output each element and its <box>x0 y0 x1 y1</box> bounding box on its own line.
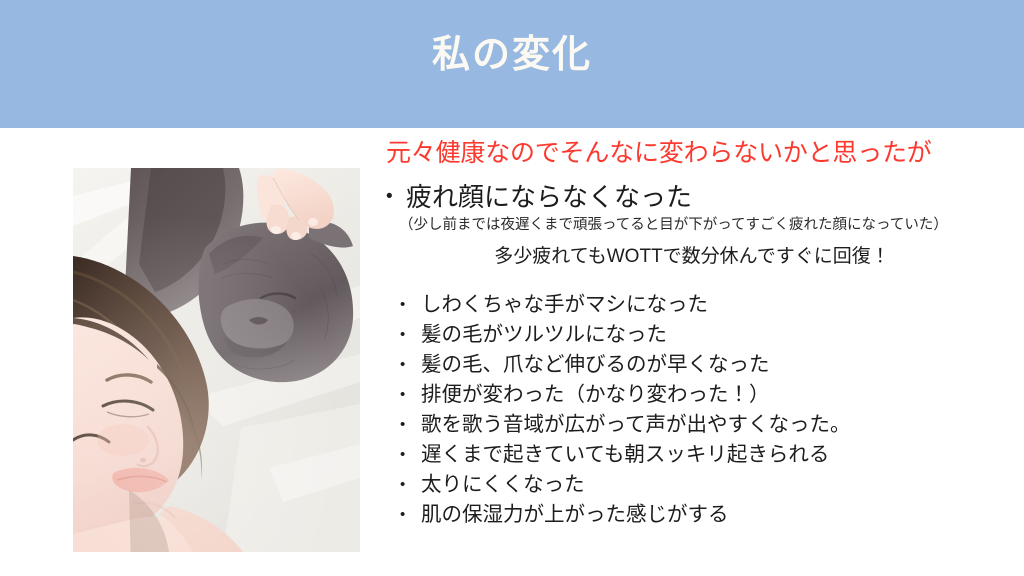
list-item: • 排便が変わった（かなり変わった！） <box>400 380 1012 410</box>
primary-point-block: • 疲れ顔にならなくなった （少し前までは夜遅くまで頑張ってると目が下がってすご… <box>386 180 1012 270</box>
list-item: • 髪の毛がツルツルになった <box>400 320 1012 350</box>
slide: 私の変化 <box>0 0 1024 576</box>
bullet-icon: • <box>400 380 421 410</box>
bullet-icon: • <box>400 320 421 350</box>
list-item: • 遅くまで起きていても朝スッキリ起きられる <box>400 440 1012 470</box>
bullet-icon: • <box>400 410 421 440</box>
list-item-label: 髪の毛、爪など伸びるのが早くなった <box>421 350 770 380</box>
intro-line: 元々健康なのでそんなに変わらないかと思ったが <box>386 138 1012 168</box>
bullet-icon: • <box>400 290 421 320</box>
highlight-line: 多少疲れてもWOTTで数分休んですぐに回復！ <box>372 244 1012 270</box>
list-item: • しわくちゃな手がマシになった <box>400 290 1012 320</box>
list-item: • 太りにくくなった <box>400 470 1012 500</box>
list-item: • 歌を歌う音域が広がって声が出やすくなった。 <box>400 410 1012 440</box>
primary-note: （少し前までは夜遅くまで頑張ってると目が下がってすごく疲れた顔になっていた） <box>399 215 1012 235</box>
list-item: • 肌の保湿力が上がった感じがする <box>400 500 1012 530</box>
bullet-icon: • <box>400 350 421 380</box>
photo-woman-with-cat <box>73 168 360 552</box>
bullet-icon: • <box>400 470 421 500</box>
list-item-label: 髪の毛がツルツルになった <box>421 320 667 350</box>
bullet-icon: • <box>400 500 421 530</box>
list-item-label: 遅くまで起きていても朝スッキリ起きられる <box>421 440 829 470</box>
photo-illustration <box>73 168 360 552</box>
primary-bullet-item: • 疲れ顔にならなくなった <box>386 180 1012 214</box>
bullet-icon: • <box>386 180 406 214</box>
bullet-icon: • <box>400 440 421 470</box>
list-item: • 髪の毛、爪など伸びるのが早くなった <box>400 350 1012 380</box>
list-item-label: 肌の保湿力が上がった感じがする <box>421 500 729 530</box>
list-item-label: 歌を歌う音域が広がって声が出やすくなった。 <box>421 410 850 440</box>
list-item-label: 排便が変わった（かなり変わった！） <box>421 380 770 410</box>
content-column: 元々健康なのでそんなに変わらないかと思ったが • 疲れ顔にならなくなった （少し… <box>386 138 1012 530</box>
list-item-label: しわくちゃな手がマシになった <box>421 290 708 320</box>
list-item-label: 太りにくくなった <box>421 470 585 500</box>
secondary-bullet-list: • しわくちゃな手がマシになった • 髪の毛がツルツルになった • 髪の毛、爪な… <box>400 290 1012 530</box>
primary-bullet-text: 疲れ顔にならなくなった <box>406 180 692 214</box>
page-title: 私の変化 <box>0 0 1024 128</box>
